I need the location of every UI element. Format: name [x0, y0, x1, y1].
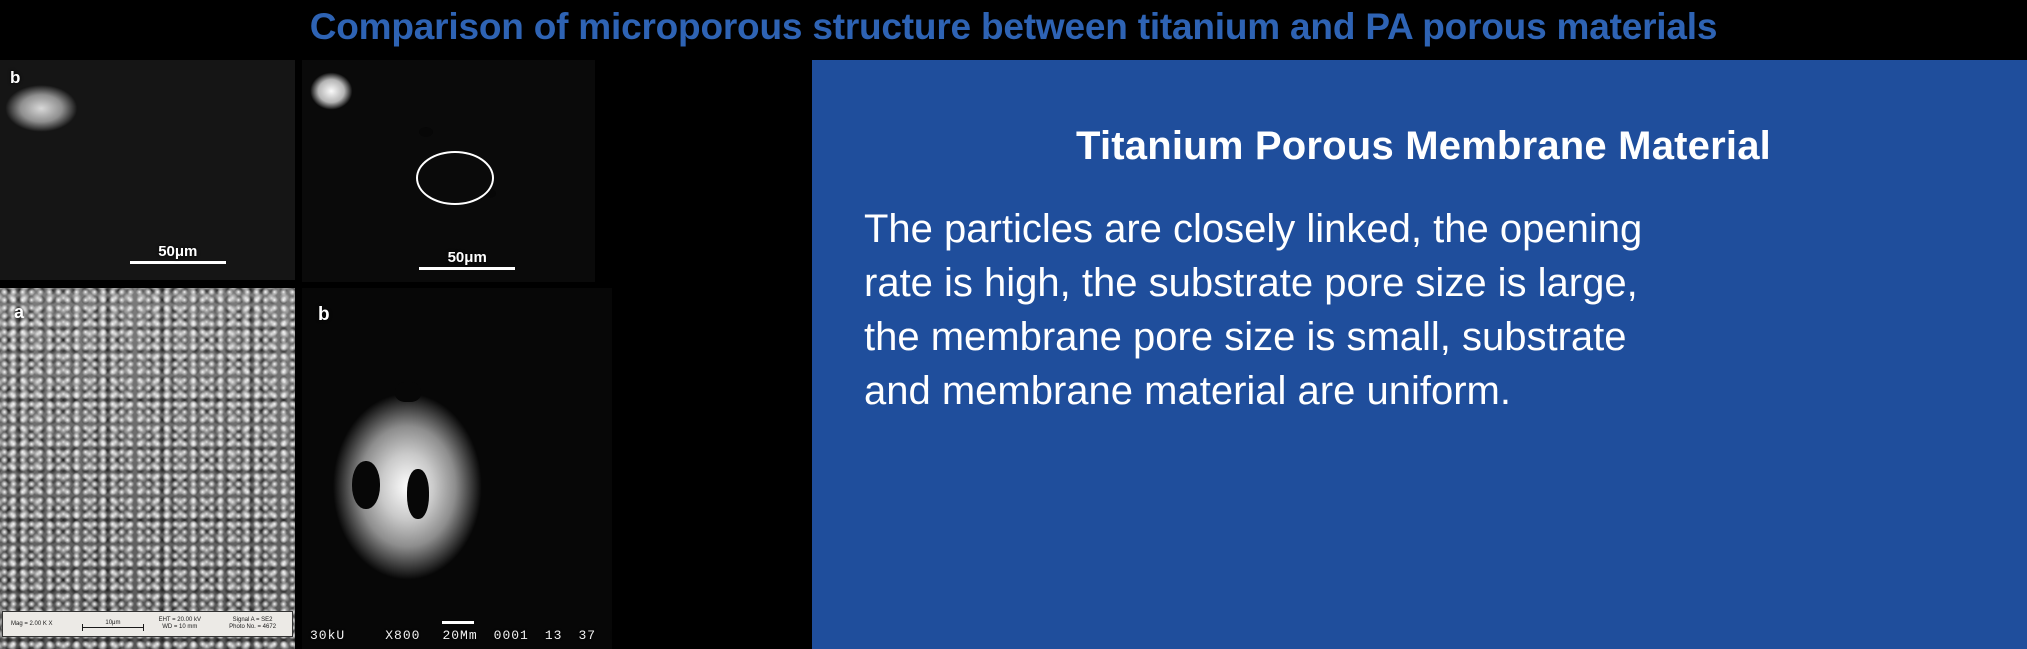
ellipse-annotation-icon: [416, 151, 494, 205]
sem-image-top-left[interactable]: b 50μm: [0, 60, 295, 280]
caption-magnification: X800: [385, 628, 420, 643]
info-photo-no: Photo No. = 4672: [229, 624, 276, 632]
pore-spot: [407, 469, 429, 519]
sem-image-bottom-left[interactable]: a Mag = 2.00 K X 10μm EHT = 20.00 kV WD …: [0, 288, 295, 649]
panel-body-line: and membrane material are uniform.: [864, 364, 1983, 418]
caption-scale-line: [442, 621, 473, 624]
sem-caption-bar: 30kU X800 20Mm 0001 13 37 SEI: [302, 628, 612, 643]
sem-image-bottom-right[interactable]: b 30kU X800 20Mm 0001 13 37 SEI: [302, 288, 612, 649]
info-signal-params: Signal A = SE2 Photo No. = 4672: [213, 617, 292, 632]
caption-voltage: 30kU: [310, 628, 345, 643]
panel-body: The particles are closely linked, the op…: [864, 202, 1983, 418]
info-eht: EHT = 20.00 kV: [159, 617, 201, 625]
info-signal: Signal A = SE2: [233, 617, 273, 625]
caption-scale-label: 20Mm: [442, 628, 477, 643]
sem-info-bar: Mag = 2.00 K X 10μm EHT = 20.00 kV WD = …: [2, 611, 293, 637]
caption-code-1: 13: [545, 628, 563, 643]
sem-texture-nanoparticles: [0, 288, 295, 649]
sem-label-top-left: b: [10, 68, 20, 88]
info-scale-bar: 10μm: [80, 612, 147, 636]
sem-label-bottom-right: b: [318, 304, 330, 326]
info-scale-line: [82, 627, 144, 628]
sem-texture-membrane: [302, 288, 612, 649]
sem-image-grid: b 50μm 50μm a Mag = 2.00 K X: [0, 60, 795, 649]
pore-spot: [352, 461, 380, 509]
caption-scale: 20Mm: [442, 628, 477, 643]
sem-image-top-right[interactable]: 50μm: [302, 60, 595, 282]
info-wd: WD = 10 mm: [162, 624, 197, 632]
slide-title-bar: Comparison of microporous structure betw…: [0, 0, 2027, 52]
caption-code-2: 37: [578, 628, 596, 643]
description-panel: Titanium Porous Membrane Material The pa…: [812, 60, 2027, 649]
info-beam-params: EHT = 20.00 kV WD = 10 mm: [146, 617, 213, 632]
scale-bar-top-left: 50μm: [130, 244, 226, 264]
pore-spot: [419, 127, 433, 137]
pore-spot: [395, 382, 421, 402]
scale-bar-line: [419, 267, 515, 270]
scale-bar-top-right: 50μm: [419, 250, 515, 270]
page-title: Comparison of microporous structure betw…: [310, 8, 1717, 45]
slide-canvas: Comparison of microporous structure betw…: [0, 0, 2027, 649]
caption-frame: 0001: [494, 628, 529, 643]
scale-bar-line: [130, 261, 226, 264]
sem-label-bottom-left: a: [14, 302, 24, 323]
panel-body-line: rate is high, the substrate pore size is…: [864, 256, 1983, 310]
info-magnification: Mag = 2.00 K X: [3, 621, 80, 627]
panel-body-line: The particles are closely linked, the op…: [864, 202, 1983, 256]
panel-heading: Titanium Porous Membrane Material: [864, 124, 1983, 168]
panel-body-line: the membrane pore size is small, substra…: [864, 310, 1983, 364]
